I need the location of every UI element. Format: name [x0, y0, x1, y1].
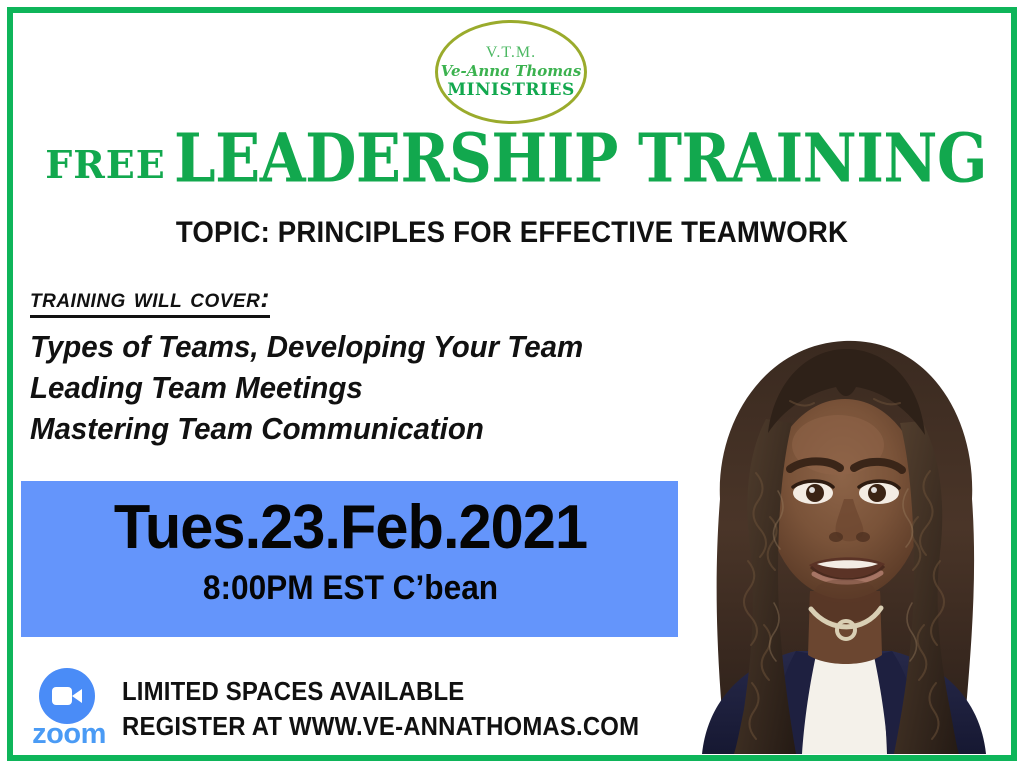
training-line-3: Mastering Team Communication [30, 409, 676, 450]
logo-text-group: V.T.M. Ve-Anna Thomas MINISTRIES [435, 20, 587, 124]
date-time-band: Tues.23.Feb.2021 8:00PM EST C’bean [21, 481, 680, 637]
zoom-wordmark: zoom [30, 720, 108, 749]
zoom-logo: zoom [30, 668, 108, 750]
flyer-canvas: V.T.M. Ve-Anna Thomas MINISTRIES FREE LE… [0, 0, 1024, 768]
headline-main-title: LEADERSHIP TRAINING [174, 125, 987, 192]
speaker-portrait-photo [678, 303, 1010, 754]
camera-lens-shape [72, 689, 82, 703]
topic-line: TOPIC: PRINCIPLES FOR EFFECTIVE TEAMWORK [41, 216, 983, 250]
register-url-line: REGISTER AT WWW.VE-ANNATHOMAS.COM [122, 709, 639, 744]
headline-row: FREE LEADERSHIP TRAINING [0, 122, 1024, 192]
event-date: Tues.23.Feb.2021 [34, 495, 667, 560]
event-time: 8:00PM EST C’bean [44, 569, 657, 608]
registration-text-lines: LIMITED SPACES AVAILABLE REGISTER AT WWW… [122, 674, 684, 744]
logo-name: Ve-Anna Thomas [441, 64, 582, 79]
registration-block: zoom LIMITED SPACES AVAILABLE REGISTER A… [30, 668, 684, 750]
training-line-2: Leading Team Meetings [30, 368, 676, 409]
training-line-1: Types of Teams, Developing Your Team [30, 327, 676, 368]
camera-body-shape [52, 687, 72, 705]
video-camera-glyph [52, 687, 82, 705]
ministry-logo: V.T.M. Ve-Anna Thomas MINISTRIES [435, 20, 587, 124]
logo-ministries-word: MINISTRIES [447, 82, 575, 99]
training-content-block: Training Will Cover: Types of Teams, Dev… [30, 283, 710, 450]
training-covers-heading: Training Will Cover: [30, 283, 270, 318]
headline-free-word: FREE [45, 146, 166, 184]
zoom-camera-icon [39, 668, 95, 724]
logo-initials: V.T.M. [486, 45, 536, 61]
limited-spaces-line: LIMITED SPACES AVAILABLE [122, 674, 639, 709]
